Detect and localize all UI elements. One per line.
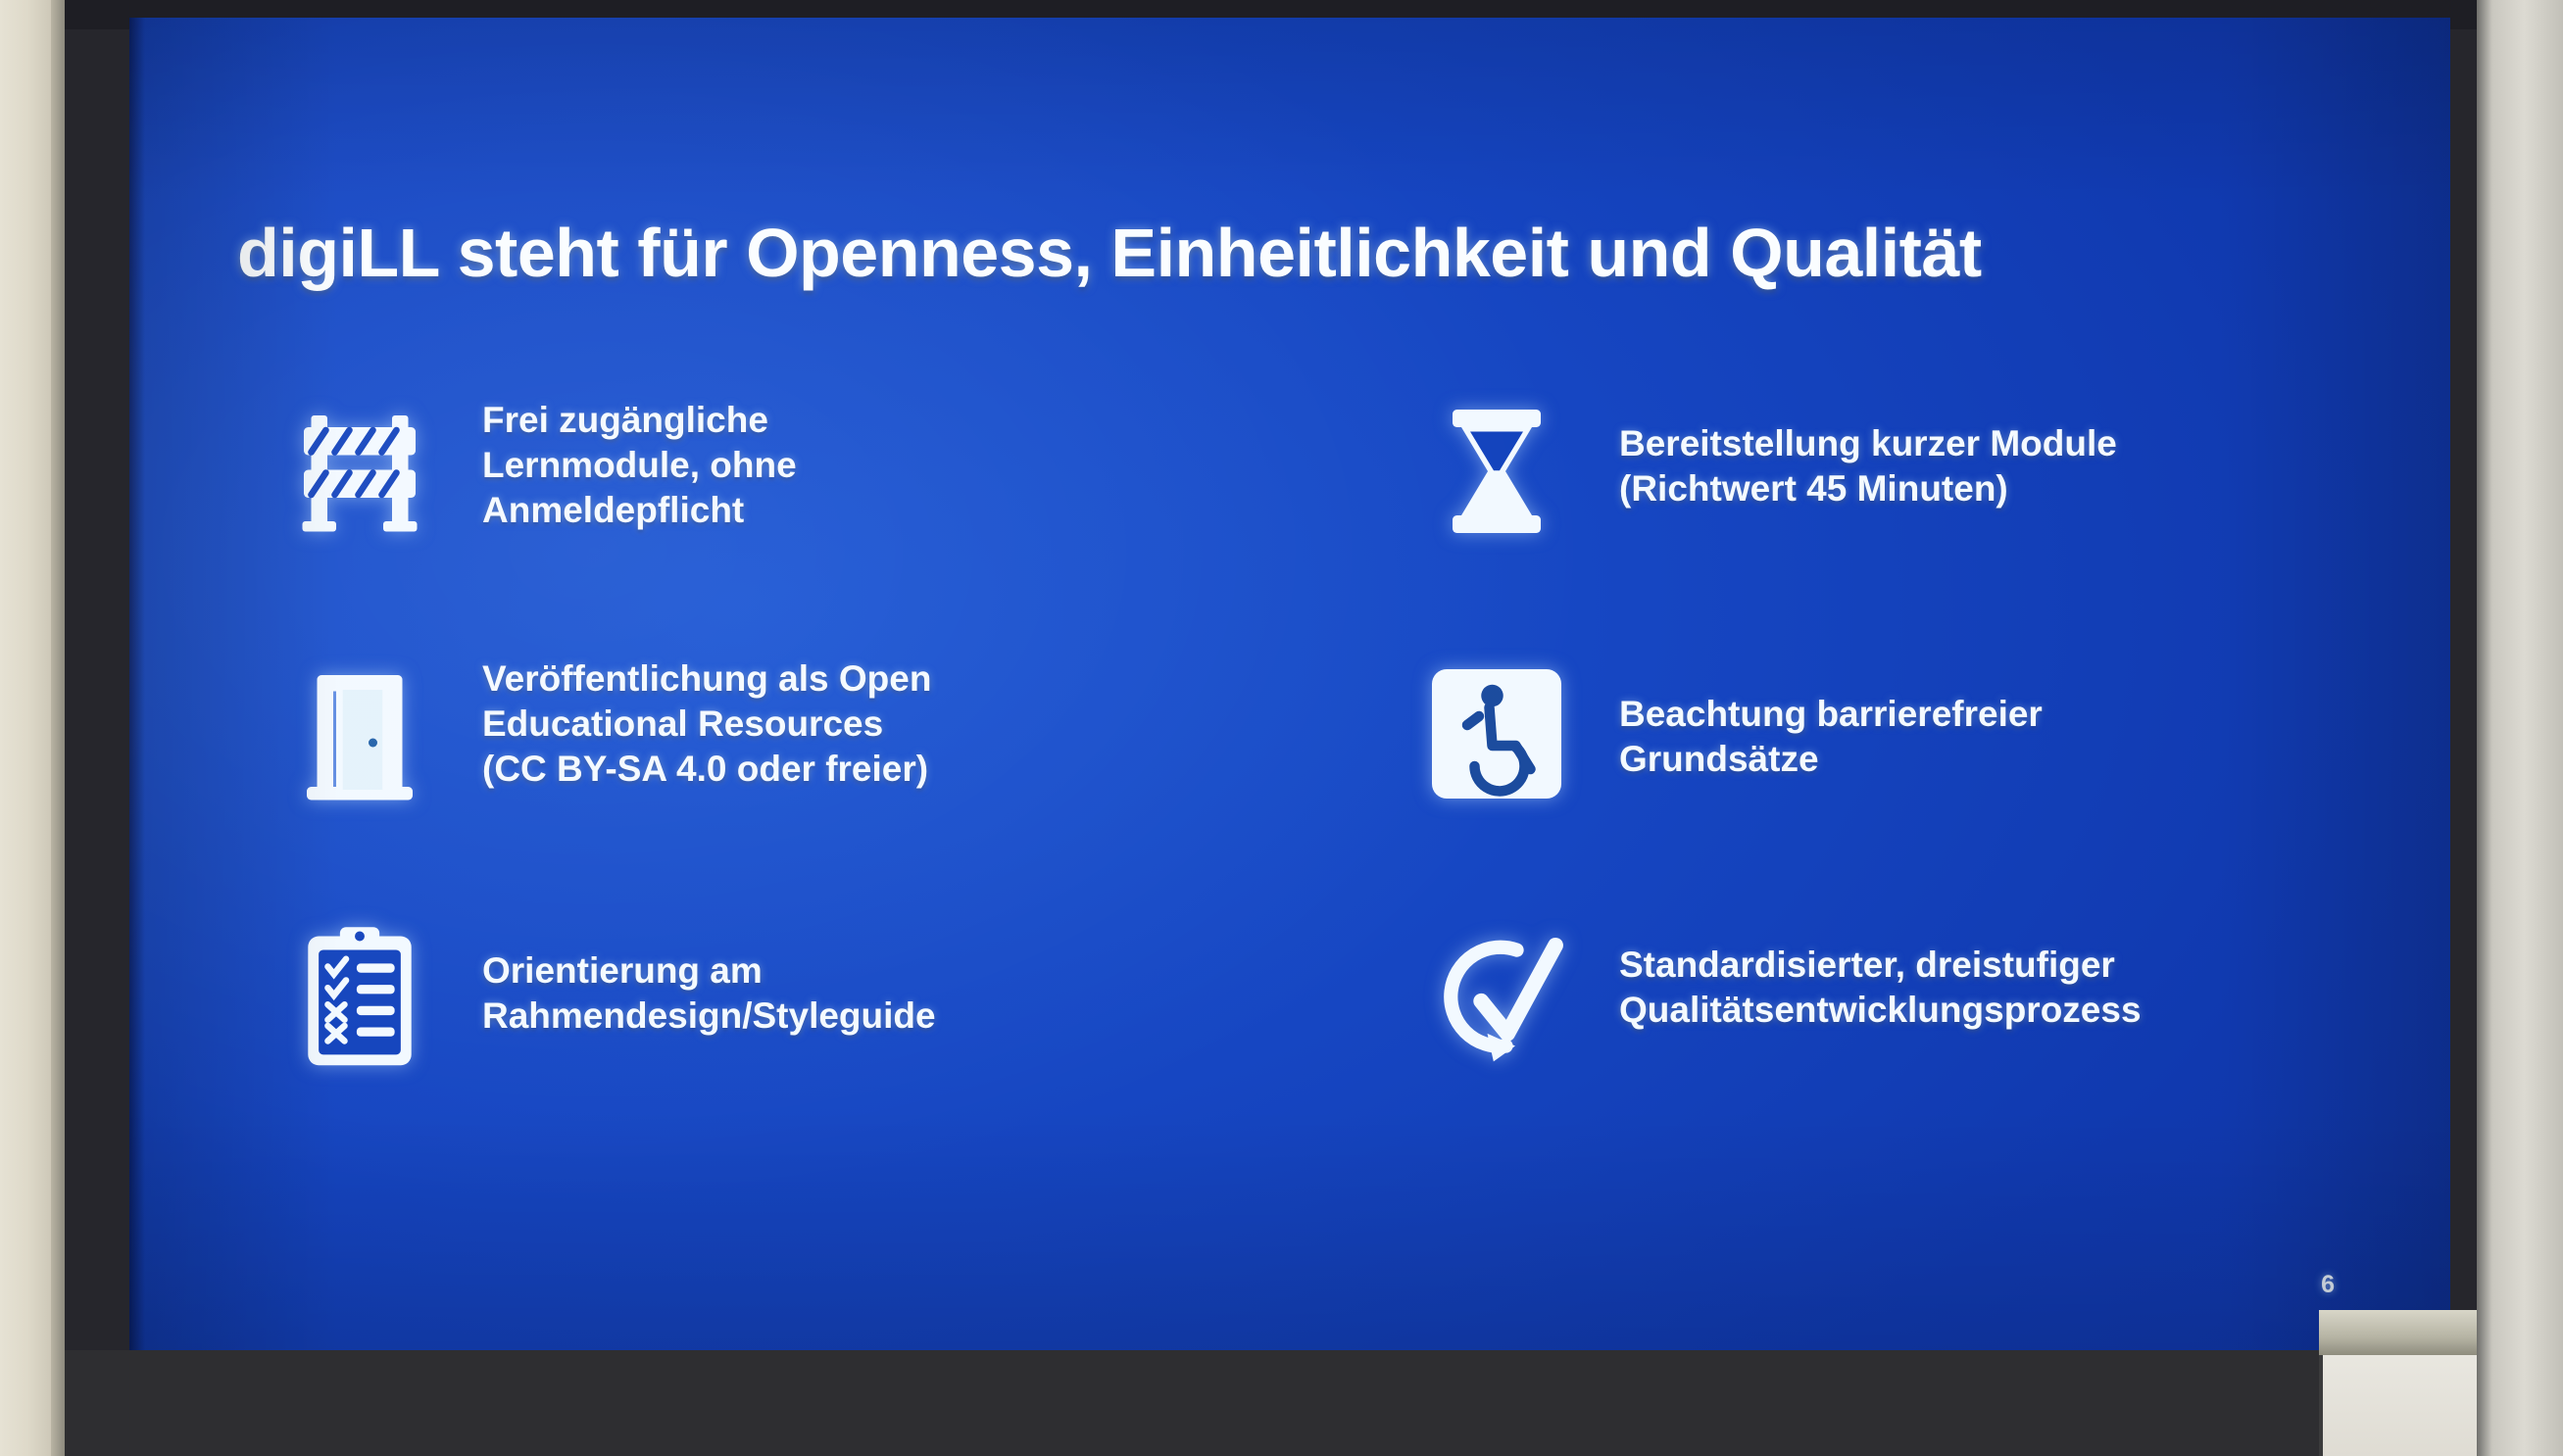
feature-item-quality-process: Standardisierter, dreistufiger Qualitäts… xyxy=(1266,913,2403,1176)
photo-of-projected-slide: digiLL steht für Openness, Einheitlichke… xyxy=(0,0,2563,1456)
hourglass-icon xyxy=(1374,388,1619,555)
feature-line: Orientierung am xyxy=(482,948,936,994)
feature-line: (CC BY-SA 4.0 oder freier) xyxy=(482,747,931,792)
room-wall-left xyxy=(0,0,51,1456)
feature-line: Lernmodule, ohne xyxy=(482,443,797,488)
room-wall-right xyxy=(2477,0,2563,1456)
slide-page-number: 6 xyxy=(2321,1271,2335,1299)
wheelchair-accessibility-icon xyxy=(1374,651,1619,817)
feature-line: Beachtung barrierefreier xyxy=(1619,692,2043,737)
room-wall-left-shadow xyxy=(51,0,65,1456)
quality-cycle-check-icon xyxy=(1374,913,1619,1080)
feature-text-short-modules: Bereitstellung kurzer Module (Richtwert … xyxy=(1619,388,2117,511)
feature-line: Veröffentlichung als Open xyxy=(482,656,931,702)
feature-text-accessibility: Beachtung barrierefreier Grundsätze xyxy=(1619,651,2043,782)
feature-line: Qualitätsentwicklungsprozess xyxy=(1619,988,2142,1033)
feature-item-styleguide: Orientierung am Rahmendesign/Styleguide xyxy=(129,913,1266,1176)
projection-screen-frame-bottom xyxy=(65,1350,2477,1456)
feature-text-oer-license: Veröffentlichung als Open Educational Re… xyxy=(482,651,931,792)
feature-item-accessibility: Beachtung barrierefreier Grundsätze xyxy=(1266,651,2403,913)
clipboard-checklist-icon xyxy=(237,913,482,1080)
feature-line: Frei zugängliche xyxy=(482,398,797,443)
feature-line: (Richtwert 45 Minuten) xyxy=(1619,466,2117,511)
road-barrier-icon xyxy=(237,388,482,555)
feature-item-open-access: Frei zugängliche Lernmodule, ohne Anmeld… xyxy=(129,388,1266,651)
feature-line: Educational Resources xyxy=(482,702,931,747)
feature-text-styleguide: Orientierung am Rahmendesign/Styleguide xyxy=(482,913,936,1039)
feature-line: Standardisierter, dreistufiger xyxy=(1619,943,2142,988)
open-door-icon xyxy=(237,651,482,817)
feature-item-oer-license: Veröffentlichung als Open Educational Re… xyxy=(129,651,1266,913)
feature-line: Anmeldepflicht xyxy=(482,488,797,533)
feature-line: Rahmendesign/Styleguide xyxy=(482,994,936,1039)
feature-text-open-access: Frei zugängliche Lernmodule, ohne Anmeld… xyxy=(482,388,797,533)
presentation-slide: digiLL steht für Openness, Einheitlichke… xyxy=(129,18,2450,1350)
feature-line: Grundsätze xyxy=(1619,737,2043,782)
feature-line: Bereitstellung kurzer Module xyxy=(1619,421,2117,466)
slide-title: digiLL steht für Openness, Einheitlichke… xyxy=(237,214,2344,292)
feature-item-short-modules: Bereitstellung kurzer Module (Richtwert … xyxy=(1266,388,2403,651)
feature-text-quality-process: Standardisierter, dreistufiger Qualitäts… xyxy=(1619,913,2142,1033)
slide-content-grid: Frei zugängliche Lernmodule, ohne Anmeld… xyxy=(129,388,2450,1176)
